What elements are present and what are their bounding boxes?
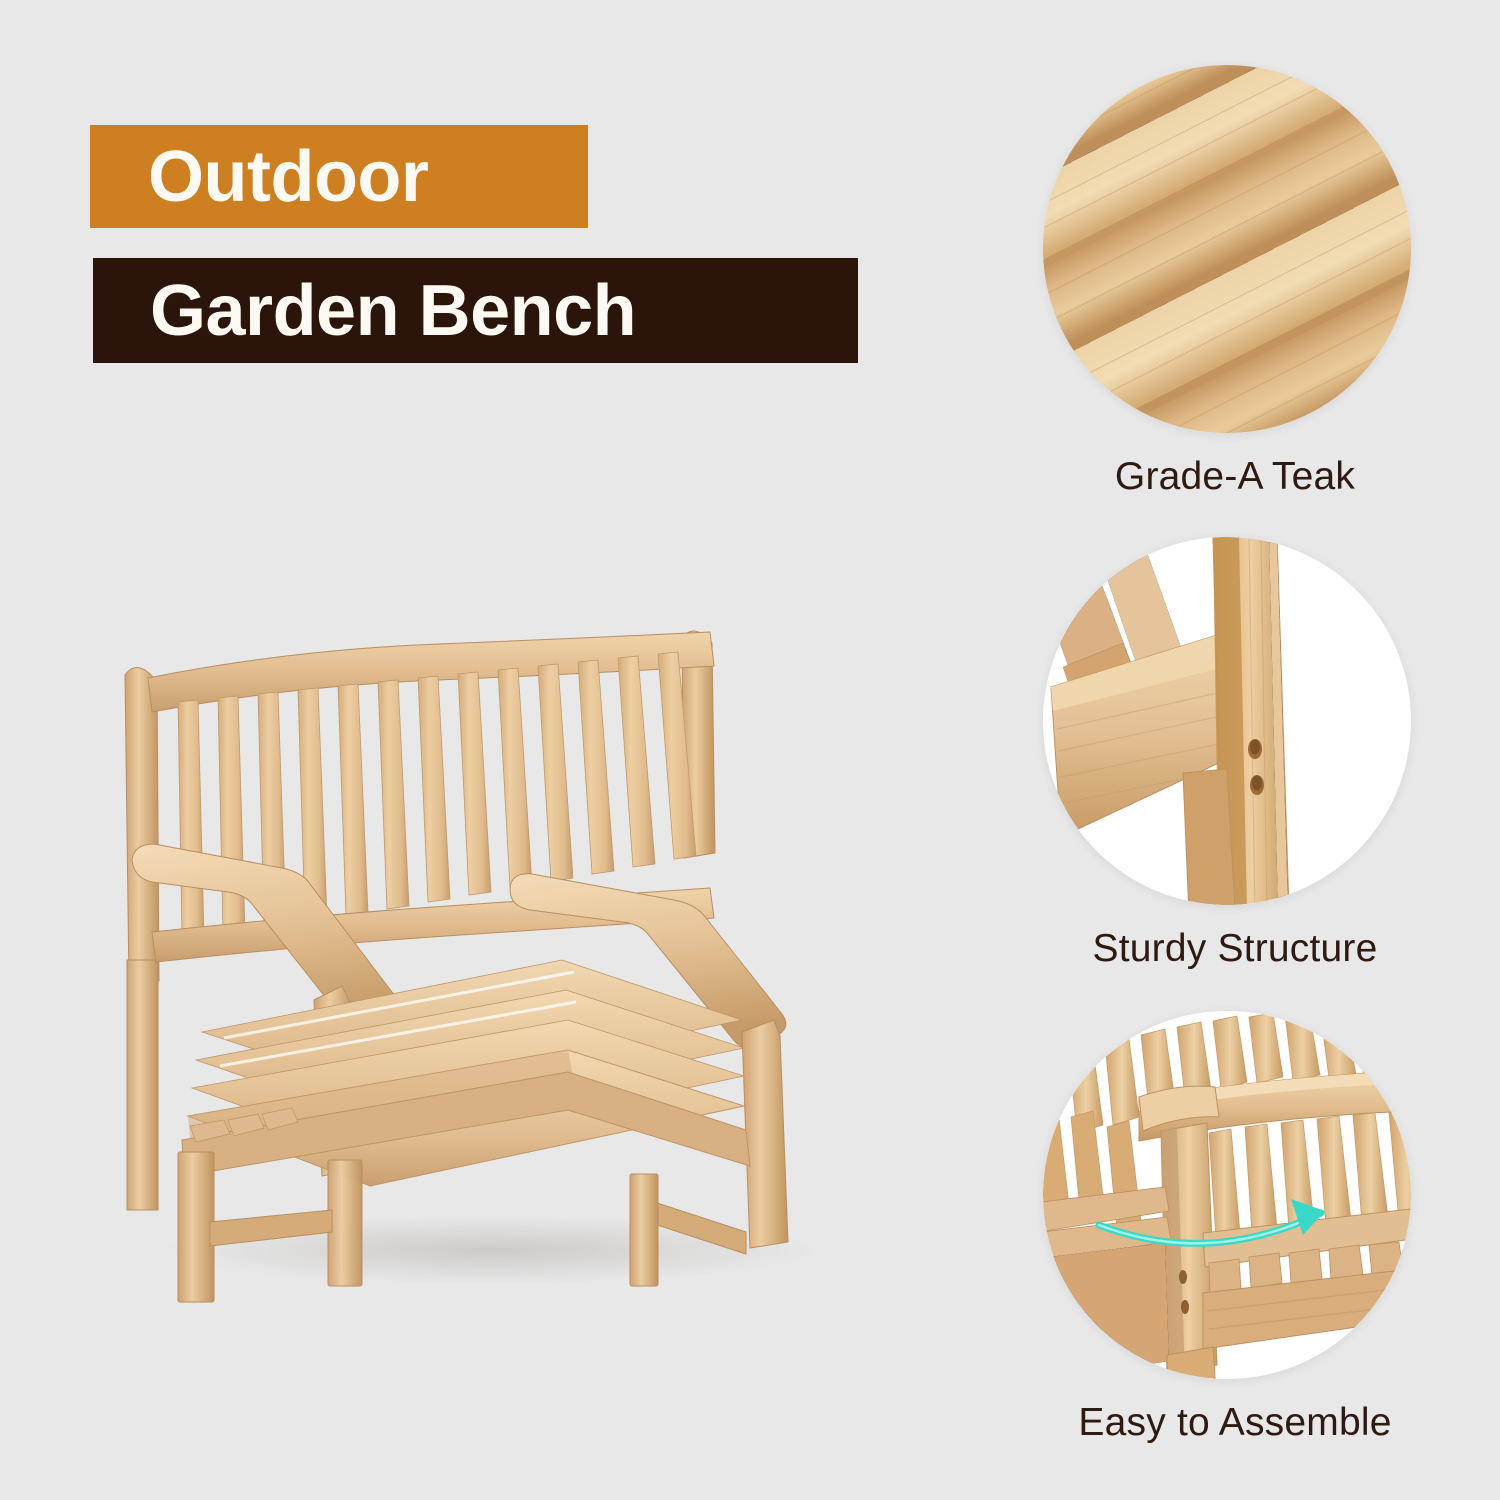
feature-label-grade-a-teak: Grade-A Teak [1000, 455, 1470, 499]
feature-image-sturdy-structure [1043, 537, 1411, 905]
title-line-1: Outdoor [148, 136, 428, 218]
feature-grade-a-teak: Grade-A Teak [1000, 65, 1470, 499]
feature-label-easy-to-assemble: Easy to Assemble [1000, 1401, 1470, 1445]
feature-list: Grade-A Teak [1000, 0, 1500, 1500]
title-banner-outdoor: Outdoor [90, 125, 588, 228]
title-banner-garden-bench: Garden Bench [93, 258, 858, 363]
feature-image-grade-a-teak [1043, 65, 1411, 433]
feature-easy-to-assemble: Easy to Assemble [1000, 1011, 1470, 1445]
feature-label-sturdy-structure: Sturdy Structure [1000, 927, 1470, 971]
title-line-2: Garden Bench [150, 270, 636, 352]
product-hero-image [70, 560, 970, 1340]
title-block: Outdoor Garden Bench [0, 0, 900, 400]
feature-image-easy-to-assemble [1043, 1011, 1411, 1379]
feature-sturdy-structure: Sturdy Structure [1000, 537, 1470, 971]
